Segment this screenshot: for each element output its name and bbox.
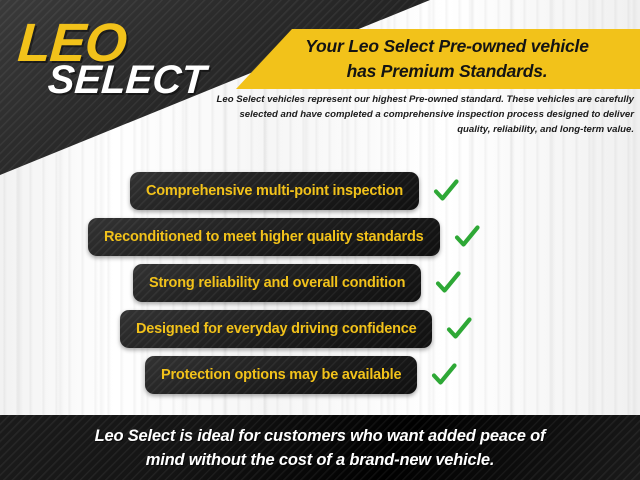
- feature-pill: Protection options may be available: [145, 356, 417, 394]
- feature-row: Comprehensive multi-point inspection: [130, 172, 461, 210]
- feature-row: Reconditioned to meet higher quality sta…: [88, 218, 482, 256]
- feature-pill: Strong reliability and overall condition: [133, 264, 421, 302]
- footer-banner: Leo Select is ideal for customers who wa…: [0, 415, 640, 480]
- check-icon: [452, 222, 482, 252]
- feature-label: Strong reliability and overall condition: [149, 276, 405, 291]
- feature-row: Strong reliability and overall condition: [133, 264, 463, 302]
- slide-root: LEO SELECT Your Leo Select Pre-owned veh…: [0, 0, 640, 480]
- check-icon: [444, 314, 474, 344]
- title-banner: Your Leo Select Pre-owned vehicle has Pr…: [236, 29, 640, 89]
- footer-text: Leo Select is ideal for customers who wa…: [0, 424, 640, 472]
- feature-pill: Designed for everyday driving confidence: [120, 310, 432, 348]
- feature-pill: Reconditioned to meet higher quality sta…: [88, 218, 440, 256]
- title-line-1: Your Leo Select Pre-owned vehicle: [254, 34, 640, 59]
- feature-row: Designed for everyday driving confidence: [120, 310, 474, 348]
- feature-pill: Comprehensive multi-point inspection: [130, 172, 419, 210]
- feature-label: Reconditioned to meet higher quality sta…: [104, 230, 424, 245]
- feature-row: Protection options may be available: [145, 356, 459, 394]
- brand-logo: LEO SELECT: [18, 16, 233, 111]
- feature-label: Protection options may be available: [161, 368, 401, 383]
- intro-paragraph: Leo Select vehicles represent our highes…: [206, 92, 634, 138]
- feature-label: Designed for everyday driving confidence: [136, 322, 416, 337]
- logo-word-select: SELECT: [47, 60, 208, 100]
- footer-line-1: Leo Select is ideal for customers who wa…: [0, 424, 640, 448]
- check-icon: [431, 176, 461, 206]
- title-text: Your Leo Select Pre-owned vehicle has Pr…: [236, 34, 640, 84]
- title-line-2: has Premium Standards.: [254, 59, 640, 84]
- check-icon: [429, 360, 459, 390]
- check-icon: [433, 268, 463, 298]
- feature-label: Comprehensive multi-point inspection: [146, 184, 403, 199]
- feature-list: Comprehensive multi-point inspection Rec…: [0, 170, 640, 402]
- footer-line-2: mind without the cost of a brand-new veh…: [0, 448, 640, 472]
